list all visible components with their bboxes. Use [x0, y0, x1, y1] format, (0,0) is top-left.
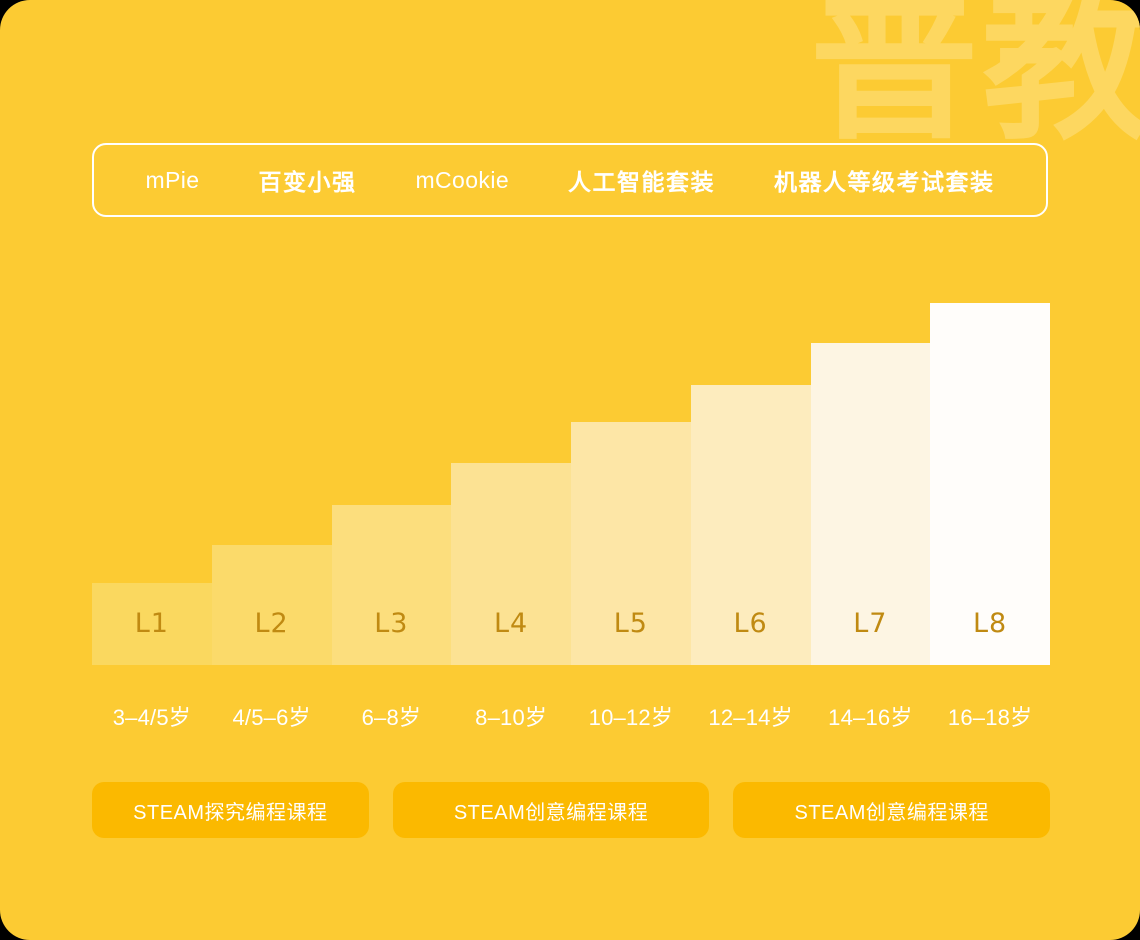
age-range-label-l2: 4/5–6岁	[212, 700, 332, 732]
chart-bar-label: L3	[374, 608, 408, 665]
chart-bar-l1[interactable]: L1	[92, 583, 212, 665]
chart-bar-l5[interactable]: L5	[571, 422, 691, 665]
chart-bar-l3[interactable]: L3	[332, 505, 452, 665]
course-button-creative-programming-2[interactable]: STEAM创意编程课程	[733, 782, 1050, 838]
product-nav-item-robot-exam-kit[interactable]: 机器人等级考试套装	[774, 163, 995, 197]
product-nav-pill: mPie 百变小强 mCookie 人工智能套装 机器人等级考试套装	[92, 143, 1048, 217]
course-button-creative-programming-1[interactable]: STEAM创意编程课程	[393, 782, 710, 838]
steam-course-level-card: 普教 mPie 百变小强 mCookie 人工智能套装 机器人等级考试套装 L1…	[0, 0, 1140, 940]
course-button-row: STEAM探究编程课程 STEAM创意编程课程 STEAM创意编程课程	[92, 782, 1050, 838]
chart-bar-label: L7	[853, 608, 887, 665]
chart-bar-label: L4	[494, 608, 528, 665]
watermark-text: 普教	[810, 0, 1140, 164]
course-button-explore-programming[interactable]: STEAM探究编程课程	[92, 782, 369, 838]
age-range-label-l7: 14–16岁	[811, 700, 931, 732]
chart-bar-label: L1	[135, 608, 169, 665]
chart-bar-label: L2	[255, 608, 289, 665]
product-nav-item-baibianxiaoqiang[interactable]: 百变小强	[258, 163, 356, 197]
chart-bar-label: L6	[734, 608, 768, 665]
chart-bar-l4[interactable]: L4	[451, 463, 571, 665]
product-nav-item-ai-kit[interactable]: 人工智能套装	[568, 163, 715, 197]
age-range-label-l6: 12–14岁	[691, 700, 811, 732]
chart-bar-l6[interactable]: L6	[691, 385, 811, 665]
chart-bar-l8[interactable]: L8	[930, 303, 1050, 665]
chart-bar-l2[interactable]: L2	[212, 545, 332, 665]
chart-bar-label: L5	[614, 608, 648, 665]
age-range-label-l5: 10–12岁	[571, 700, 691, 732]
age-range-axis: 3–4/5岁 4/5–6岁 6–8岁 8–10岁 10–12岁 12–14岁 1…	[92, 700, 1050, 732]
level-bar-chart: L1 L2 L3 L4 L5 L6 L7 L8	[92, 295, 1050, 665]
product-nav-item-mcookie[interactable]: mCookie	[415, 167, 509, 194]
age-range-label-l1: 3–4/5岁	[92, 700, 212, 732]
chart-bar-l7[interactable]: L7	[811, 343, 931, 665]
age-range-label-l3: 6–8岁	[332, 700, 452, 732]
age-range-label-l4: 8–10岁	[451, 700, 571, 732]
chart-bar-label: L8	[973, 608, 1007, 665]
product-nav-item-mpie[interactable]: mPie	[145, 167, 199, 194]
age-range-label-l8: 16–18岁	[930, 700, 1050, 732]
